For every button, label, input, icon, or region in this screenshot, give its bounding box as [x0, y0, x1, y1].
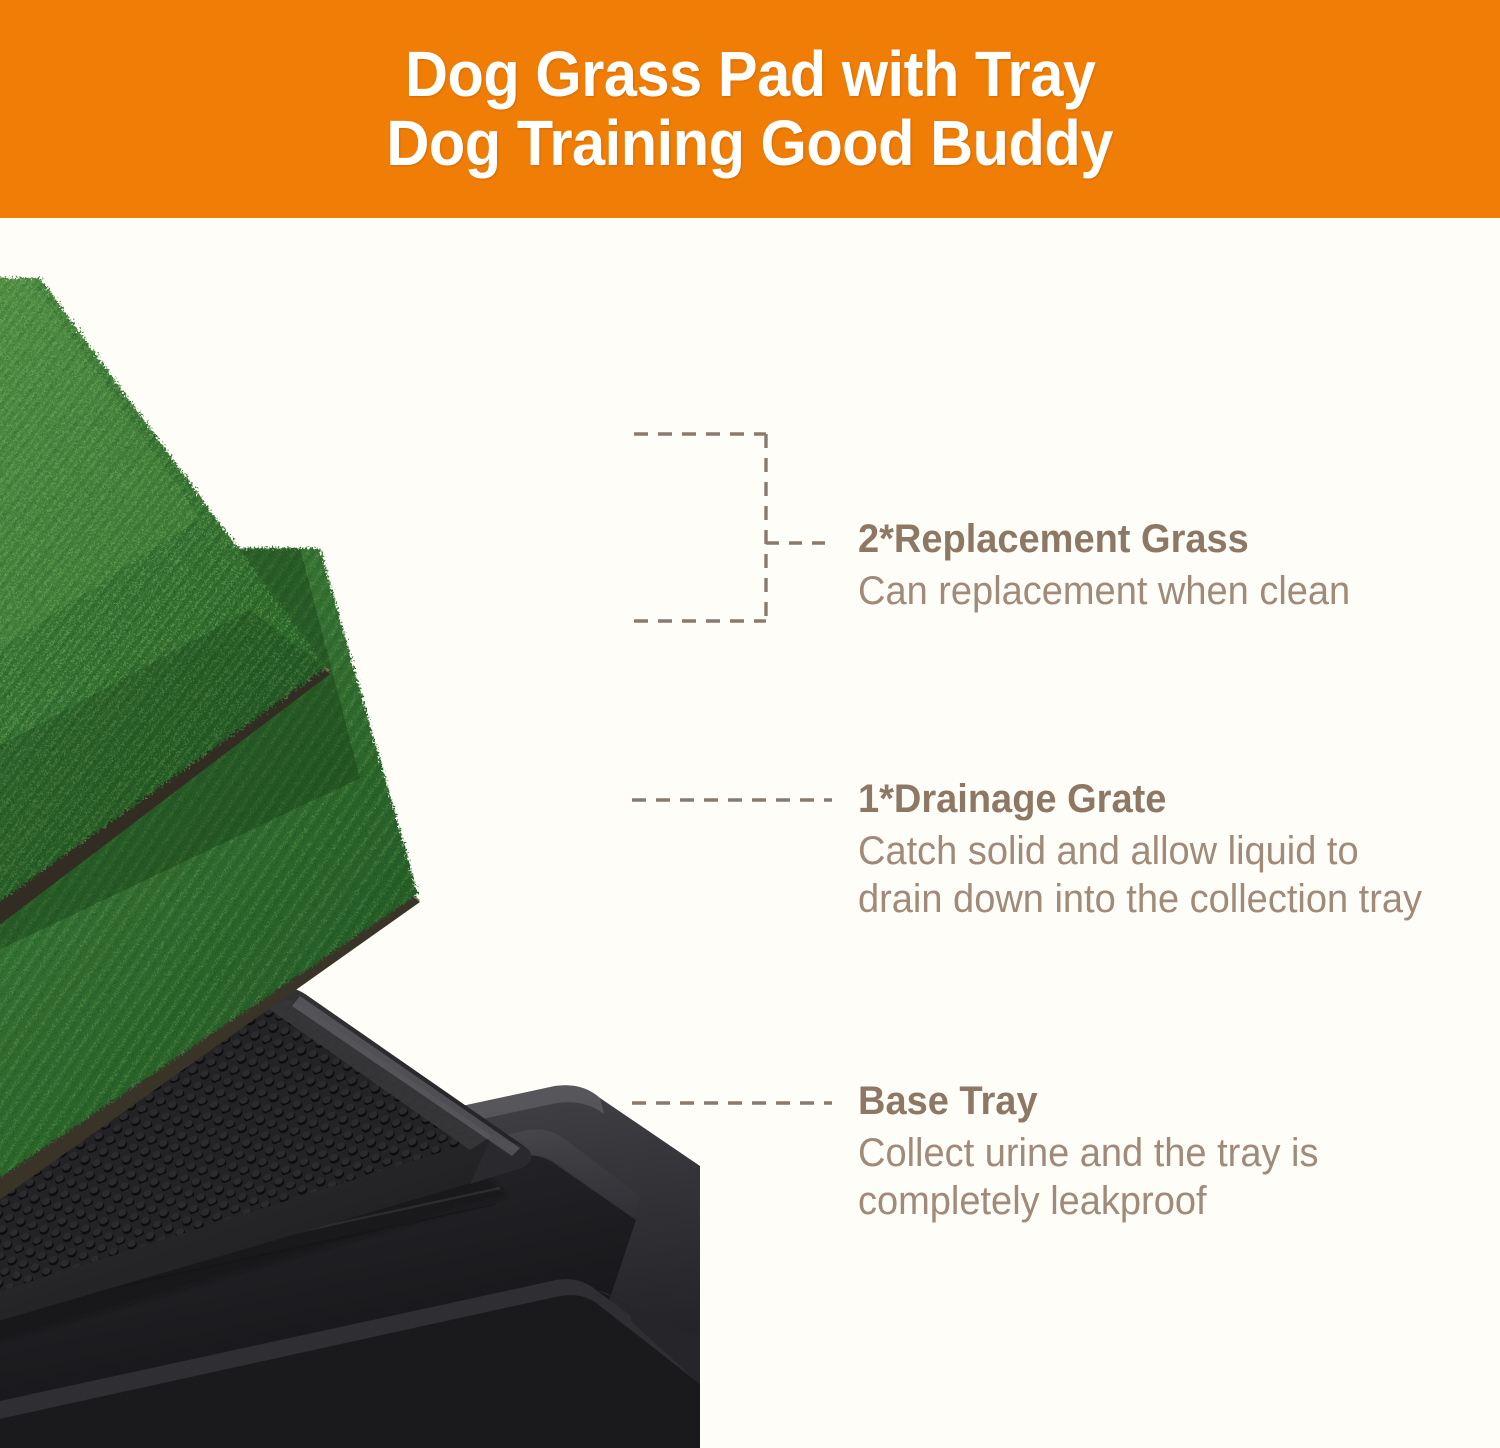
header-banner: Dog Grass Pad with Tray Dog Training Goo… [0, 0, 1500, 218]
callout-desc-drainage-grate: Catch solid and allow liquid to drain do… [858, 827, 1447, 923]
callout-drainage-grate: 1*Drainage Grate Catch solid and allow l… [858, 776, 1478, 923]
callout-base-tray: Base Tray Collect urine and the tray is … [858, 1078, 1478, 1225]
product-photo [0, 218, 700, 1448]
banner-title-line-2: Dog Training Good Buddy [387, 109, 1114, 178]
callout-desc-replacement-grass: Can replacement when clean [858, 567, 1447, 615]
callout-title-drainage-grate: 1*Drainage Grate [858, 776, 1447, 823]
callout-desc-base-tray: Collect urine and the tray is completely… [858, 1129, 1447, 1225]
callout-title-base-tray: Base Tray [858, 1078, 1447, 1125]
banner-title-line-1: Dog Grass Pad with Tray [405, 40, 1096, 109]
callout-title-replacement-grass: 2*Replacement Grass [858, 516, 1447, 563]
callout-replacement-grass: 2*Replacement Grass Can replacement when… [858, 516, 1478, 615]
